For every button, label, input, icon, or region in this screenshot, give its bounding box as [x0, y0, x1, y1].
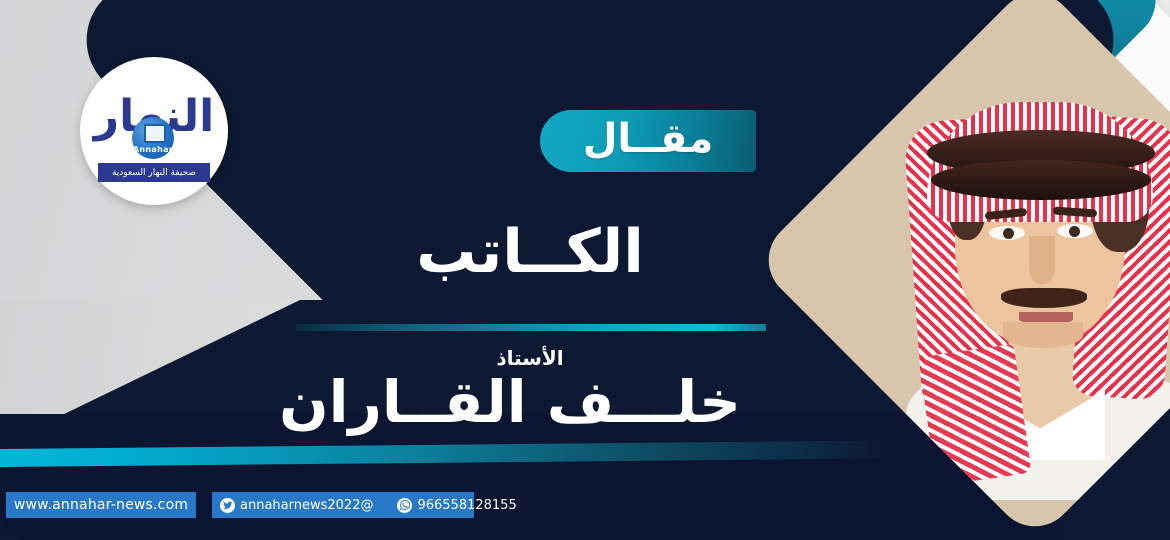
title-underline-bar: [296, 324, 766, 331]
globe-screen-icon: [144, 124, 166, 143]
logo-globe-label: Annahar: [133, 145, 173, 154]
author-honorific: الأستاذ: [300, 348, 760, 368]
photo-chin: [1003, 322, 1083, 348]
website-url: www.annahar-news.com: [14, 497, 188, 513]
article-category-badge[interactable]: مقــال: [540, 110, 756, 172]
whatsapp-icon: [397, 498, 412, 513]
photo-pupil-right: [1069, 226, 1080, 237]
photo-nose: [1029, 236, 1055, 284]
article-banner: مقــال الكــاتب الأستاذ خلـــف القــاران…: [0, 0, 1170, 540]
logo-banner-label: صحيفة النهار السعودية: [112, 168, 196, 178]
photo-pupil-left: [1003, 228, 1014, 239]
twitter-handle-item[interactable]: annaharnews2022@: [220, 498, 373, 513]
article-category-label: مقــال: [583, 119, 714, 163]
website-chip[interactable]: www.annahar-news.com: [6, 492, 196, 518]
photo-agal-lower: [931, 160, 1151, 200]
social-chip: annaharnews2022@ 966558128155: [212, 492, 474, 518]
page-title: الكــاتب: [300, 222, 760, 282]
whatsapp-number-text: 966558128155: [417, 498, 516, 513]
twitter-bird-icon: [220, 498, 235, 513]
author-name: خلـــف القــاران: [250, 372, 770, 433]
logo-banner: صحيفة النهار السعودية: [98, 163, 210, 182]
photo-moustache: [1001, 288, 1087, 308]
whatsapp-number-item[interactable]: 966558128155: [397, 498, 516, 513]
logo-inner: النهار Annahar صحيفة النهار السعودية: [88, 65, 220, 197]
twitter-handle-text: annaharnews2022@: [240, 498, 373, 513]
globe-icon: Annahar: [132, 117, 174, 159]
annahar-logo[interactable]: النهار Annahar صحيفة النهار السعودية: [80, 57, 228, 205]
